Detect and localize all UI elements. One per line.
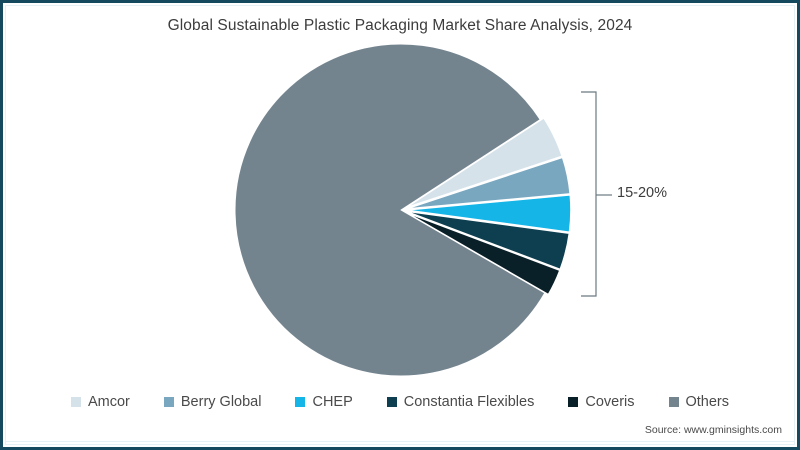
pie-chart-svg: [0, 0, 800, 450]
source-attribution: Source: www.gminsights.com: [645, 424, 782, 436]
legend-item[interactable]: CHEP: [295, 394, 352, 410]
range-bracket-label: 15-20%: [617, 185, 667, 201]
legend-swatch-icon: [164, 397, 174, 407]
legend-item-label: Amcor: [88, 394, 130, 410]
legend-item-label: Others: [686, 394, 730, 410]
chart-legend: AmcorBerry GlobalCHEPConstantia Flexible…: [0, 394, 800, 410]
legend-item[interactable]: Amcor: [71, 394, 130, 410]
legend-item-label: CHEP: [312, 394, 352, 410]
bracket-line: [581, 92, 596, 296]
legend-swatch-icon: [295, 397, 305, 407]
legend-item-label: Berry Global: [181, 394, 262, 410]
legend-item-label: Constantia Flexibles: [404, 394, 535, 410]
chart-screenshot: Global Sustainable Plastic Packaging Mar…: [0, 0, 800, 450]
legend-swatch-icon: [669, 397, 679, 407]
pie-chart-area: [0, 0, 800, 450]
legend-swatch-icon: [71, 397, 81, 407]
range-bracket: [581, 92, 612, 296]
pie-slice-group: [235, 44, 571, 376]
legend-item[interactable]: Others: [669, 394, 730, 410]
legend-item[interactable]: Coveris: [568, 394, 634, 410]
legend-item-label: Coveris: [585, 394, 634, 410]
legend-swatch-icon: [387, 397, 397, 407]
footer-rule: [6, 441, 794, 442]
legend-swatch-icon: [568, 397, 578, 407]
legend-item[interactable]: Constantia Flexibles: [387, 394, 535, 410]
legend-item[interactable]: Berry Global: [164, 394, 262, 410]
